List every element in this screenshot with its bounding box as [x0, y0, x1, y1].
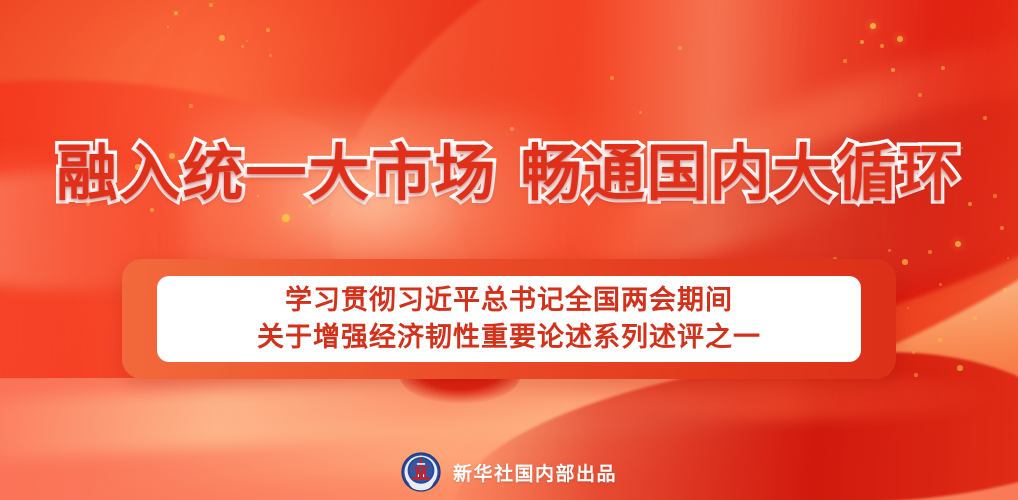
footer-credit: 新华社国内部出品 [0, 452, 1018, 492]
subtitle-line-1: 学习贯彻习近平总书记全国两会期间 [285, 282, 733, 319]
subtitle-card-inner: 学习贯彻习近平总书记全国两会期间 关于增强经济韧性重要论述系列述评之一 [157, 276, 861, 362]
page-title: 融入统一大市场 畅通国内大循环 [0, 143, 1018, 204]
xinhua-news-agency-logo-icon [401, 452, 441, 492]
footer-credit-text: 新华社国内部出品 [453, 459, 617, 486]
subtitle-line-2: 关于增强经济韧性重要论述系列述评之一 [257, 319, 761, 356]
subtitle-card-frame: 学习贯彻习近平总书记全国两会期间 关于增强经济韧性重要论述系列述评之一 [122, 259, 896, 379]
bottom-right-swoosh-highlight [570, 374, 998, 420]
poster-canvas: 融入统一大市场 畅通国内大循环 学习贯彻习近平总书记全国两会期间 关于增强经济韧… [0, 0, 1018, 500]
